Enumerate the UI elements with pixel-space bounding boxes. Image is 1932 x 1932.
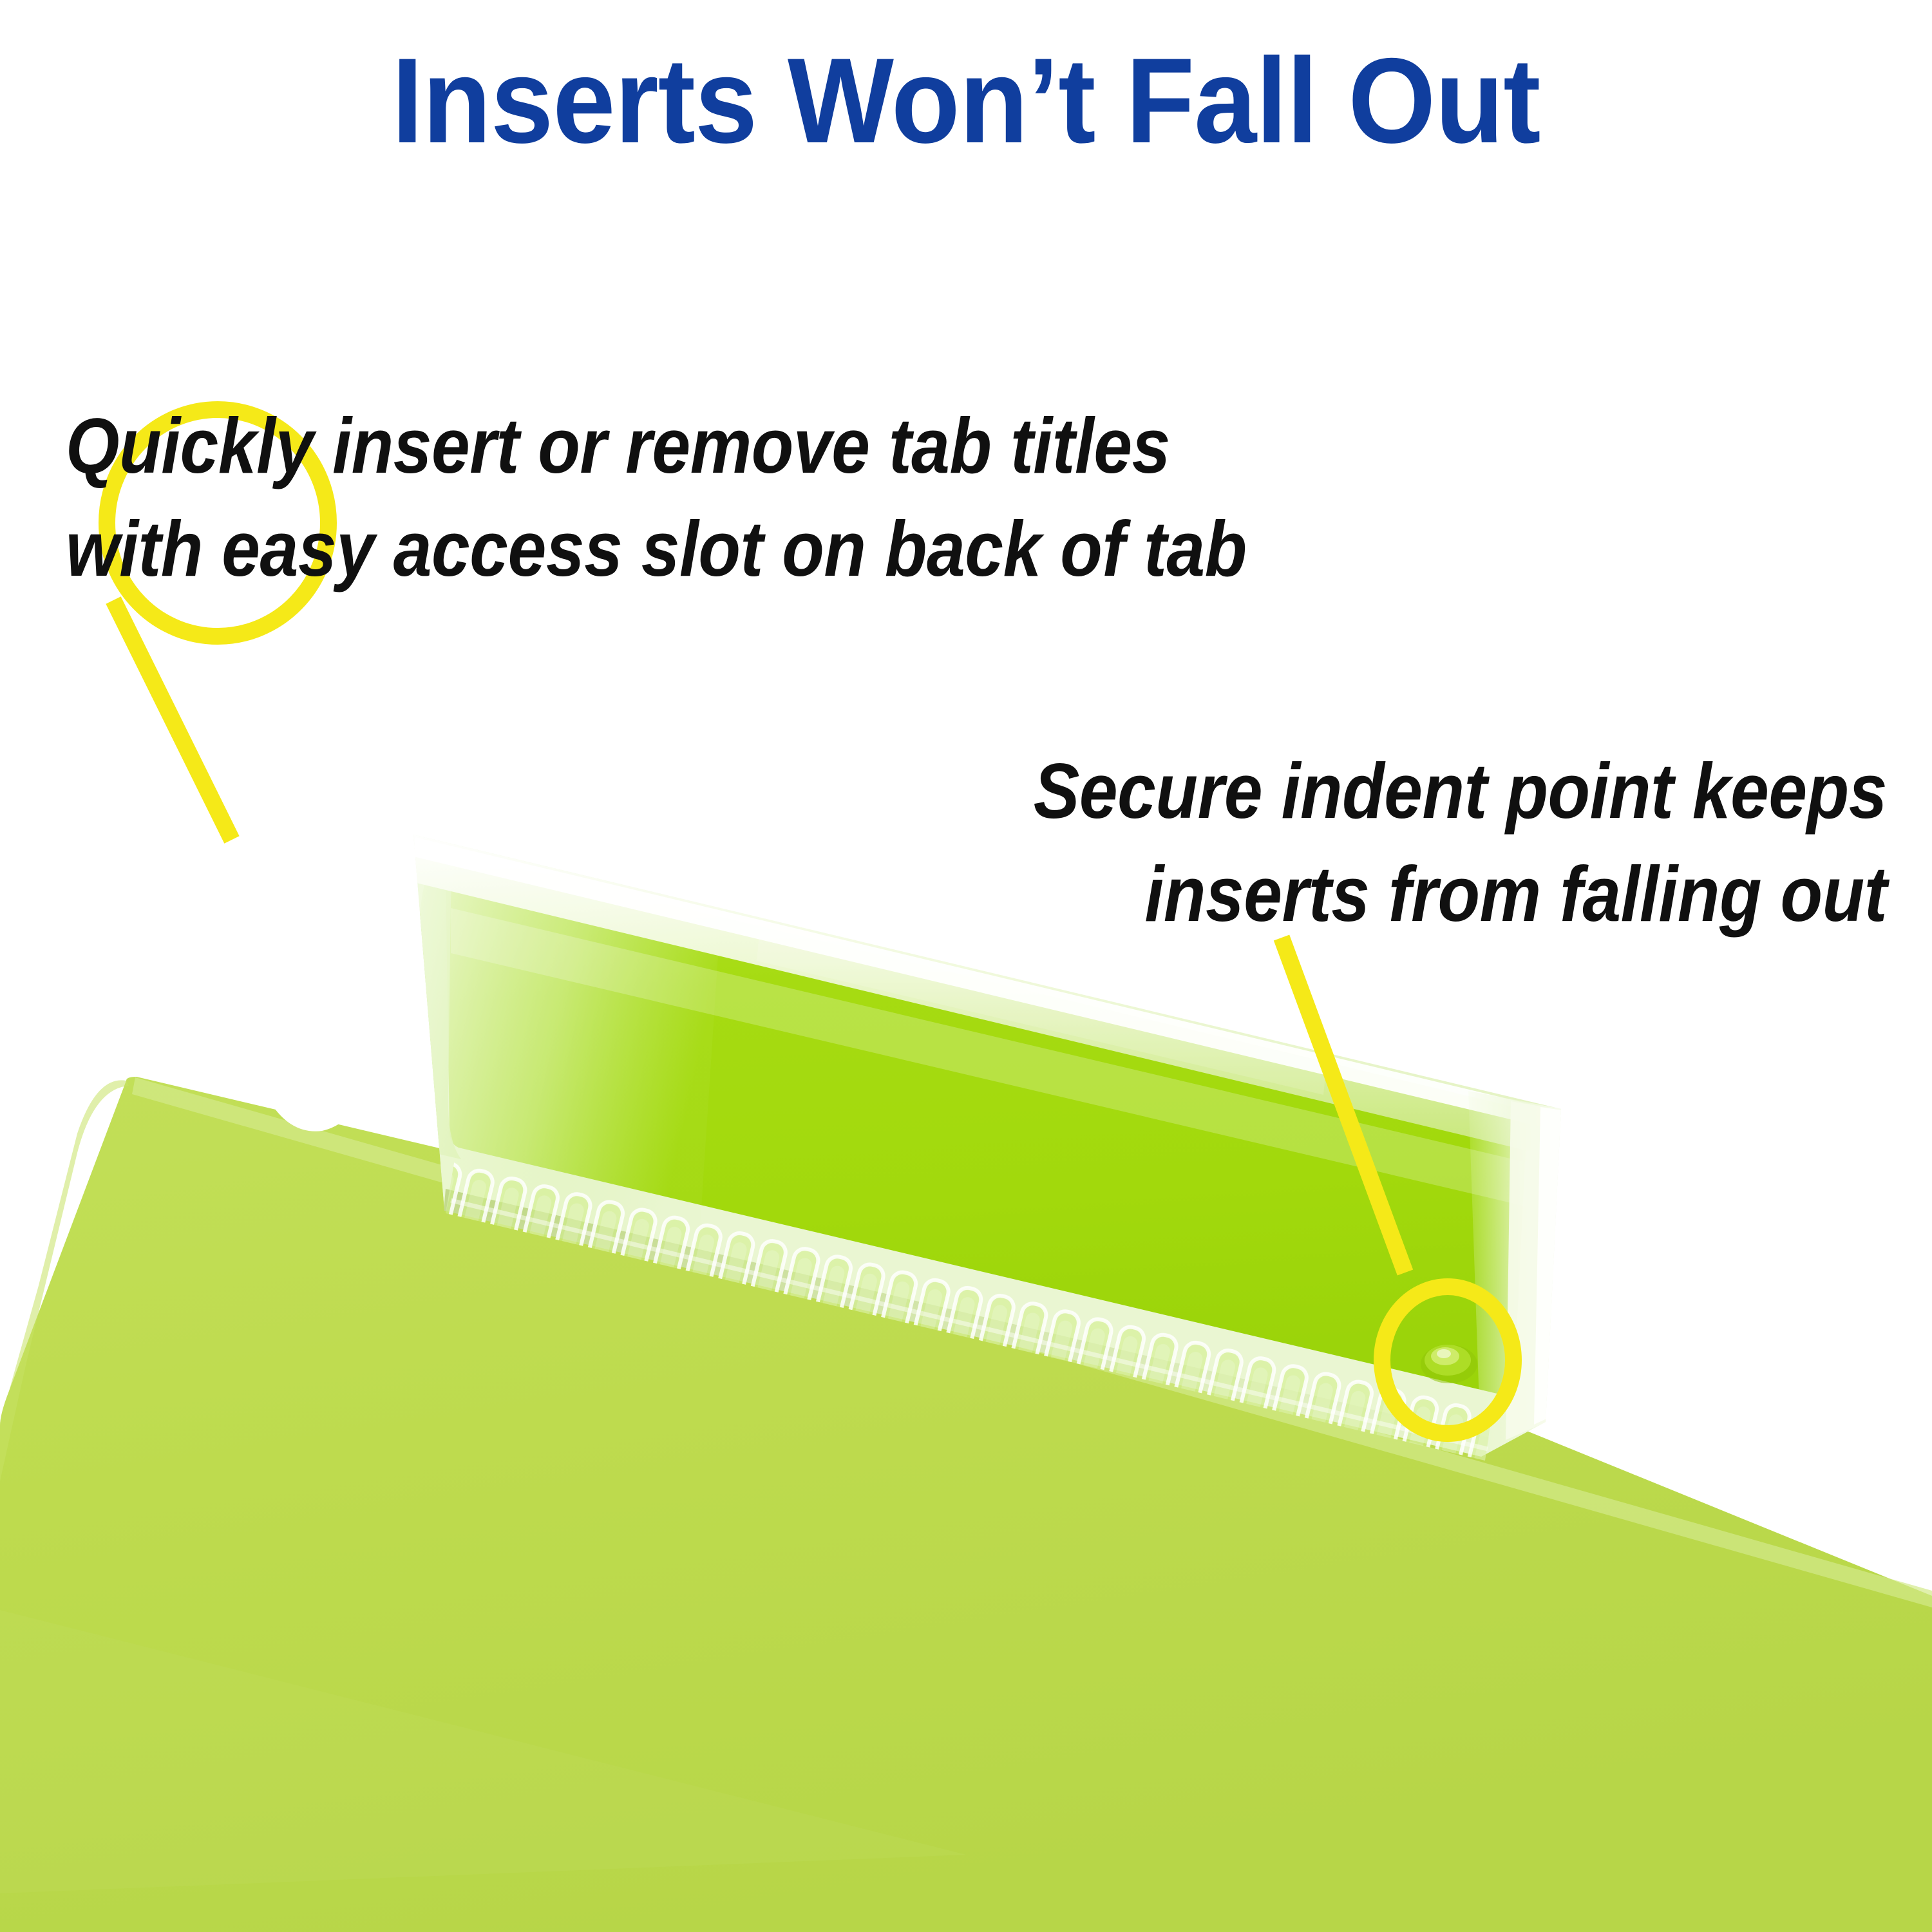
callout-line: inserts from falling out — [1034, 842, 1887, 945]
callout-line: Quickly insert or remove tab titles — [66, 394, 1247, 497]
right-highlight-circle — [1382, 1287, 1513, 1434]
right-leader-line — [1282, 938, 1405, 1273]
product-photo — [0, 0, 1932, 1932]
poster-canvas: Inserts Won’t Fall Out Quickly insert or… — [0, 0, 1932, 1932]
crimped-bottom-edge — [421, 1137, 1545, 1495]
folder-body — [0, 1077, 1932, 1932]
callout-secure-indent-point: Secure indent point keeps inserts from f… — [1034, 739, 1887, 945]
callout-line: with easy access slot on back of tab — [66, 497, 1247, 600]
tab-folder-seam — [451, 1200, 1488, 1449]
left-leader-line — [113, 600, 232, 840]
page-title: Inserts Won’t Fall Out — [68, 40, 1864, 161]
callout-line: Secure indent point keeps — [1034, 739, 1887, 842]
easy-access-slot-notch — [270, 890, 419, 1132]
callout-easy-access-slot: Quickly insert or remove tab titles with… — [66, 394, 1247, 600]
secure-indent-point — [1421, 1345, 1477, 1383]
